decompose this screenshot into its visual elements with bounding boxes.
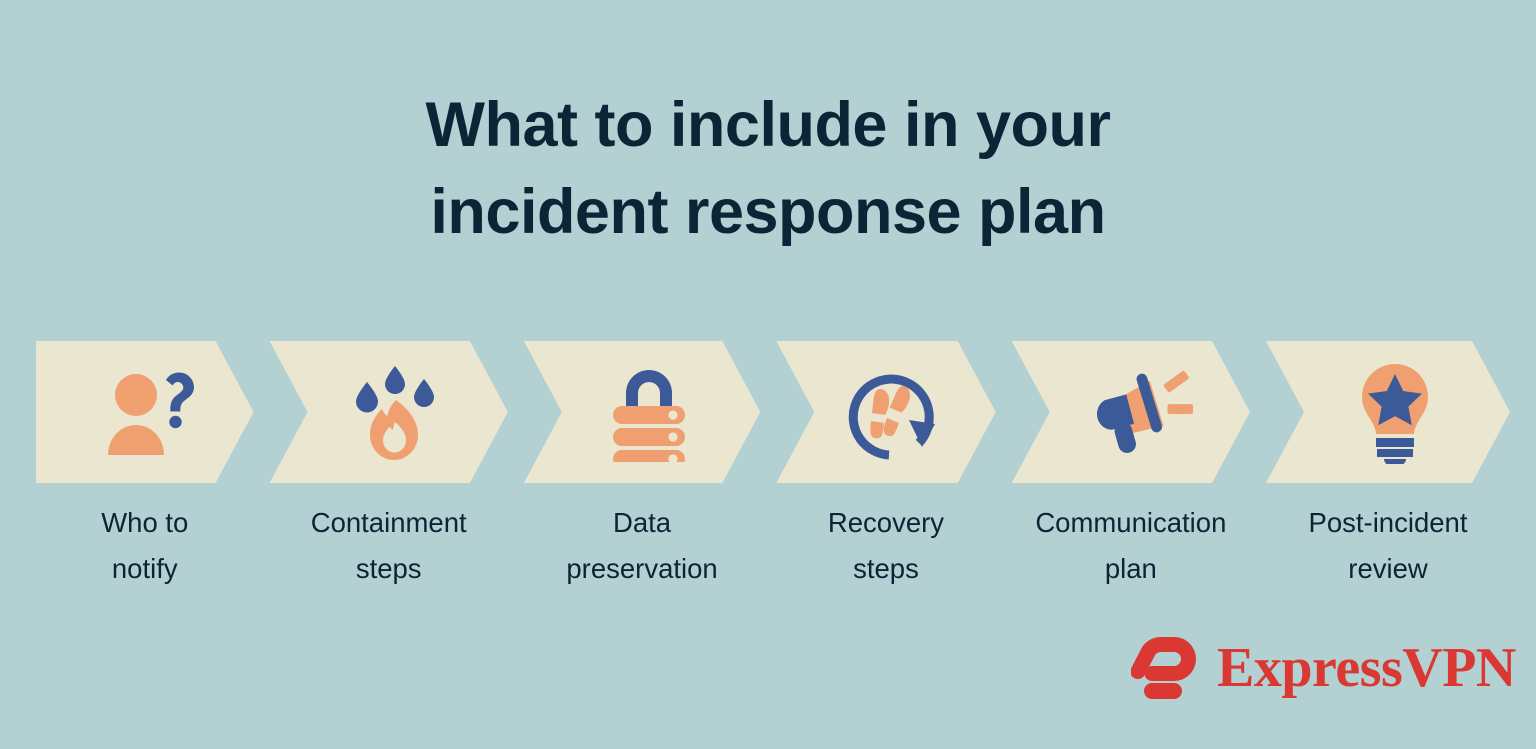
step-banner-post-incident-review — [1266, 341, 1510, 483]
label-line-1: Who to — [36, 500, 254, 546]
label-line-2: notify — [36, 546, 254, 592]
label-line-2: steps — [270, 546, 508, 592]
step-banner-recovery-steps — [776, 341, 995, 483]
lock-database-icon — [594, 360, 704, 464]
step-banner-communication-plan — [1012, 341, 1250, 483]
fire-water-drops-icon — [341, 360, 451, 464]
title-line-1: What to include in your — [0, 82, 1536, 169]
label-line-1: Recovery — [776, 500, 995, 546]
label-line-1: Communication — [1012, 500, 1250, 546]
step-banner-data-preservation — [524, 341, 760, 483]
megaphone-icon — [1083, 360, 1193, 464]
label-line-2: review — [1266, 546, 1510, 592]
expressvpn-wordmark: ExpressVPN — [1217, 640, 1516, 696]
step-label-data-preservation: Data preservation — [524, 498, 760, 608]
label-line-2: preservation — [524, 546, 760, 592]
step-label-containment-steps: Containment steps — [270, 498, 508, 608]
label-line-2: plan — [1012, 546, 1250, 592]
person-question-icon — [97, 360, 207, 464]
lightbulb-star-icon — [1340, 360, 1450, 464]
label-line-1: Containment — [270, 500, 508, 546]
steps-chevron-strip — [36, 341, 1510, 483]
step-label-who-to-notify: Who to notify — [36, 498, 254, 608]
step-banner-containment-steps — [270, 341, 508, 483]
step-label-recovery-steps: Recovery steps — [776, 498, 995, 608]
page-title: What to include in your incident respons… — [0, 82, 1536, 256]
step-banner-who-to-notify — [36, 341, 254, 483]
step-label-communication-plan: Communication plan — [1012, 498, 1250, 608]
step-labels-row: Who to notify Containment steps Data pre… — [36, 498, 1510, 608]
label-line-2: steps — [776, 546, 995, 592]
footprints-circular-arrow-icon — [838, 360, 948, 464]
infographic-canvas: What to include in your incident respons… — [0, 0, 1536, 749]
expressvpn-e-mark-icon — [1131, 637, 1203, 699]
label-line-1: Data — [524, 500, 760, 546]
step-label-post-incident-review: Post-incident review — [1266, 498, 1510, 608]
title-line-2: incident response plan — [0, 169, 1536, 256]
label-line-1: Post-incident — [1266, 500, 1510, 546]
expressvpn-logo: ExpressVPN — [1131, 637, 1516, 699]
